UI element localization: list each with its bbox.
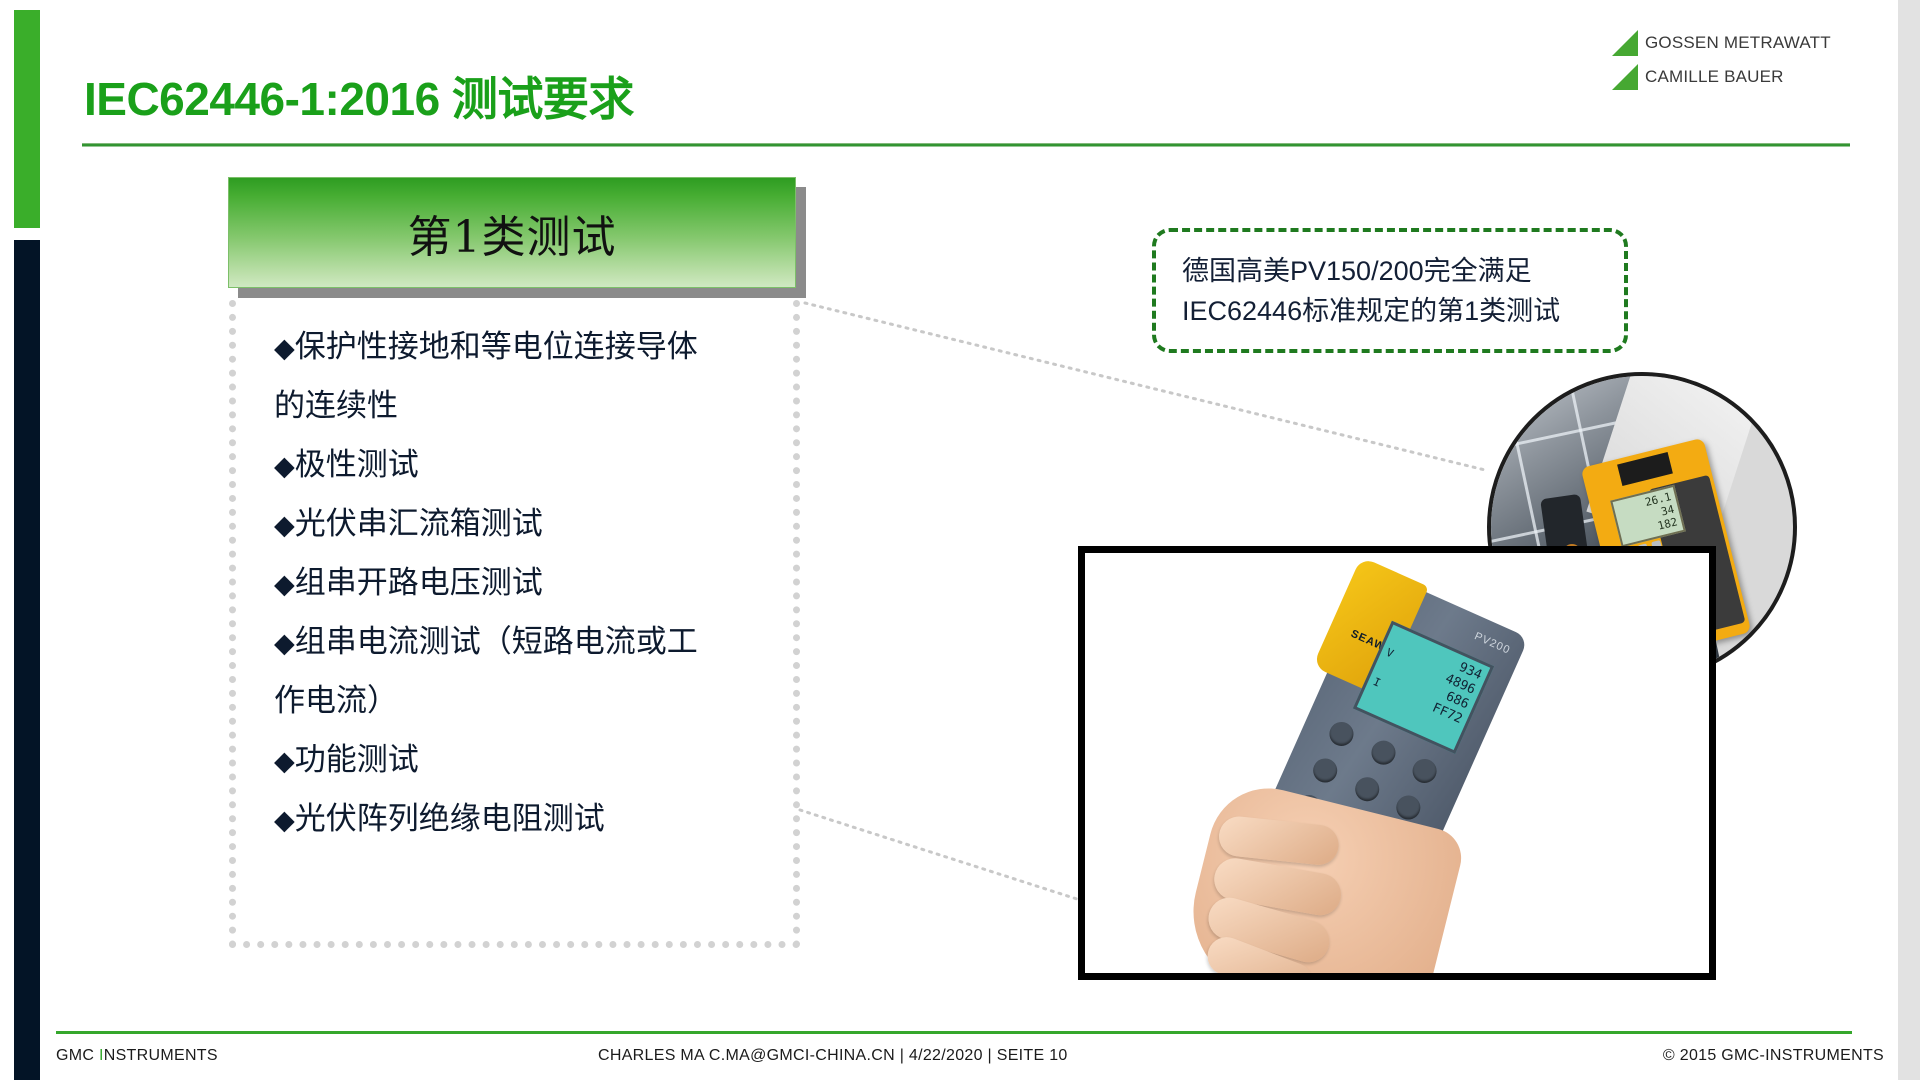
- green-triangle-icon: [1612, 30, 1638, 56]
- left-accent-bar-navy: [14, 240, 40, 1080]
- green-triangle-icon: [1612, 64, 1638, 90]
- brand-label-camille: CAMILLE BAUER: [1645, 67, 1784, 87]
- framed-photo-pv200: SEAWARD PV200 934 V4896 686 IFF72: [1078, 546, 1716, 980]
- list-item: ◆功能测试: [274, 731, 781, 790]
- callout-line-1: 德国高美PV150/200完全满足: [1182, 251, 1624, 291]
- footer-rule: [56, 1031, 1852, 1034]
- brand-label-gossen: GOSSEN METRAWATT: [1645, 33, 1831, 53]
- brand-row-gossen-metrawatt: GOSSEN METRAWATT: [1612, 30, 1842, 56]
- bullet-diamond-icon: ◆: [274, 805, 295, 835]
- list-item: ◆光伏阵列绝缘电阻测试: [274, 790, 781, 849]
- bullet-diamond-icon: ◆: [274, 746, 295, 776]
- footer-metadata: CHARLES MA C.MA@GMCI-CHINA.CN | 4/22/202…: [598, 1047, 1068, 1065]
- list-item-text: 作电流）: [274, 683, 398, 718]
- footer-brand-gmc: GMC: [56, 1047, 99, 1064]
- list-item: ◆光伏串汇流箱测试: [274, 495, 781, 554]
- list-item-text: 光伏串汇流箱测试: [295, 506, 543, 541]
- brand-row-camille-bauer: CAMILLE BAUER: [1612, 64, 1842, 90]
- footer-copyright: © 2015 GMC-INSTRUMENTS: [1663, 1047, 1884, 1065]
- list-item: 作电流）: [274, 672, 781, 731]
- list-item: ◆组串开路电压测试: [274, 554, 781, 613]
- bullet-diamond-icon: ◆: [274, 628, 295, 658]
- list-item: ◆组串电流测试（短路电流或工: [274, 613, 781, 672]
- callout-line-2: IEC62446标准规定的第1类测试: [1182, 291, 1624, 331]
- list-item-text: 极性测试: [295, 447, 419, 482]
- list-item-text: 保护性接地和等电位连接导体: [295, 329, 698, 364]
- bullet-diamond-icon: ◆: [274, 333, 295, 363]
- footer-brand-rest: NSTRUMENTS: [104, 1047, 218, 1064]
- category-heading-plate: 第1类测试: [228, 177, 806, 298]
- lcd-row4-label: I: [1370, 674, 1383, 691]
- plate-label: 第1类测试: [408, 201, 617, 265]
- bullet-diamond-icon: ◆: [274, 569, 295, 599]
- list-item-text: 组串开路电压测试: [295, 565, 543, 600]
- page-title: IEC62446-1:2016 测试要求: [84, 63, 634, 129]
- list-item: 的连续性: [274, 377, 781, 436]
- slide-canvas: IEC62446-1:2016 测试要求 GOSSEN METRAWATT CA…: [0, 0, 1920, 1080]
- framed-photo-content: SEAWARD PV200 934 V4896 686 IFF72: [1085, 553, 1709, 973]
- list-item-text: 的连续性: [274, 388, 398, 423]
- list-item-text: 组串电流测试（短路电流或工: [295, 624, 698, 659]
- plate-face: 第1类测试: [228, 177, 796, 288]
- list-item: ◆保护性接地和等电位连接导体: [274, 318, 781, 377]
- brand-logo: GOSSEN METRAWATT CAMILLE BAUER: [1612, 30, 1842, 98]
- list-item-text: 光伏阵列绝缘电阻测试: [295, 801, 605, 836]
- bullet-list-panel: ◆保护性接地和等电位连接导体 的连续性 ◆极性测试 ◆光伏串汇流箱测试 ◆组串开…: [229, 300, 800, 948]
- bullet-diamond-icon: ◆: [274, 451, 295, 481]
- footer-brand: GMC INSTRUMENTS: [56, 1047, 218, 1065]
- callout-box: 德国高美PV150/200完全满足 IEC62446标准规定的第1类测试: [1152, 228, 1628, 353]
- left-accent-bar-green: [14, 10, 40, 228]
- right-edge-scrollbar[interactable]: [1898, 0, 1920, 1080]
- bullet-diamond-icon: ◆: [274, 510, 295, 540]
- title-underline-rule: [82, 143, 1850, 147]
- list-item: ◆极性测试: [274, 436, 781, 495]
- list-item-text: 功能测试: [295, 742, 419, 777]
